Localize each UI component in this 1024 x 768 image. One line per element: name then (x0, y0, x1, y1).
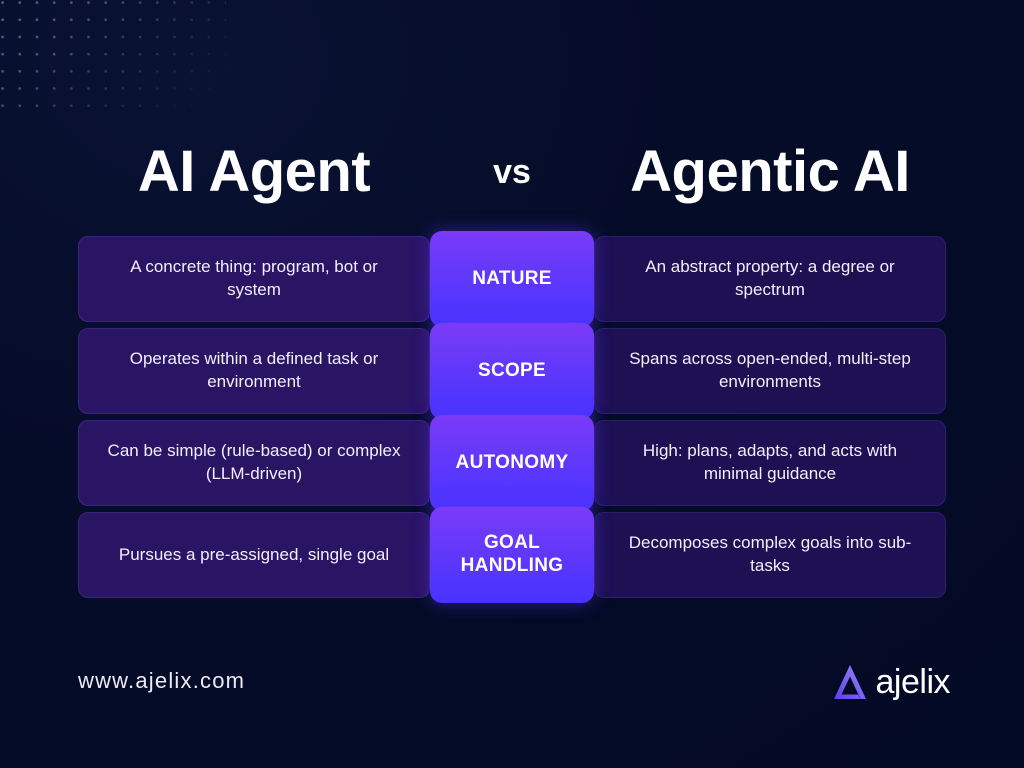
attribute-badge-goal-handling: GOAL HANDLING (430, 507, 594, 603)
footer-website-url: www.ajelix.com (78, 670, 245, 692)
attribute-badge-nature: NATURE (430, 231, 594, 327)
attribute-badge-scope: SCOPE (430, 323, 594, 419)
dot-grid-decoration (0, 0, 226, 120)
table-row: A concrete thing: program, bot or system… (78, 236, 946, 322)
table-row: Can be simple (rule-based) or complex (L… (78, 420, 946, 506)
slide-canvas: AI Agent vs Agentic AI A concrete thing:… (0, 0, 1024, 768)
cell-ai-agent-nature: A concrete thing: program, bot or system (78, 236, 430, 322)
page-title: AI Agent vs Agentic AI (78, 126, 946, 218)
ajelix-triangle-icon (832, 662, 868, 702)
cell-ai-agent-goal-handling: Pursues a pre-assigned, single goal (78, 512, 430, 598)
table-row: Pursues a pre-assigned, single goal Deco… (78, 512, 946, 598)
cell-ai-agent-scope: Operates within a defined task or enviro… (78, 328, 430, 414)
table-row: Operates within a defined task or enviro… (78, 328, 946, 414)
cell-ai-agent-autonomy: Can be simple (rule-based) or complex (L… (78, 420, 430, 506)
title-ai-agent: AI Agent (78, 143, 430, 201)
title-vs: vs (430, 155, 594, 189)
comparison-table: A concrete thing: program, bot or system… (78, 236, 946, 598)
cell-agentic-ai-autonomy: High: plans, adapts, and acts with minim… (594, 420, 946, 506)
brand-logo-wordmark: ajelix (876, 665, 950, 699)
cell-agentic-ai-scope: Spans across open-ended, multi-step envi… (594, 328, 946, 414)
title-agentic-ai: Agentic AI (594, 143, 946, 201)
cell-agentic-ai-nature: An abstract property: a degree or spectr… (594, 236, 946, 322)
cell-agentic-ai-goal-handling: Decomposes complex goals into sub-tasks (594, 512, 946, 598)
attribute-badge-autonomy: AUTONOMY (430, 415, 594, 511)
brand-logo: ajelix (832, 662, 950, 702)
